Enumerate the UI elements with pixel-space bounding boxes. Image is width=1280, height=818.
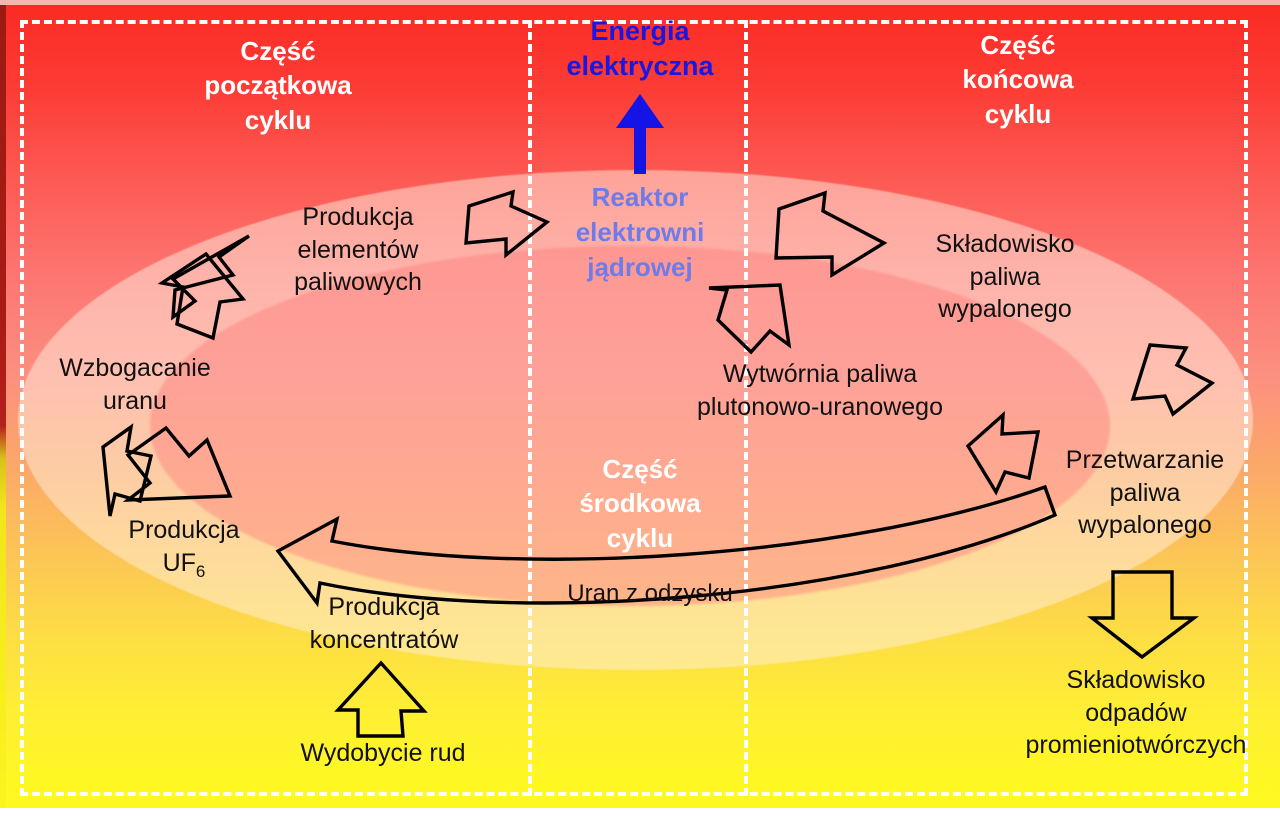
node-przetwarzanie-paliwa: Przetwarzanie paliwa wypalonego — [1036, 444, 1254, 542]
arrow-reprocessing-to-waste-store — [1092, 572, 1194, 657]
node-skladowisko-odpadow: Składowisko odpadów promieniotwórczych — [996, 664, 1276, 762]
arrow-enrichment-to-fuel-elements — [173, 236, 249, 317]
node-reactor: Reaktor elektrowni jądrowej — [520, 180, 760, 284]
arrow-uf6-to-enrichment — [103, 427, 151, 516]
diagram-canvas: Część początkowa cyklu Część środkowa cy… — [0, 0, 1280, 818]
node-produkcja-uf6-text: Produkcja UF — [128, 516, 239, 577]
section-title-start: Część początkowa cyklu — [158, 34, 398, 137]
arrow-mox-plant-to-reactor — [709, 285, 789, 352]
node-wzbogacanie-uranu: Wzbogacanie uranu — [10, 352, 260, 417]
node-skladowisko-paliwa: Składowisko paliwa wypalonego — [900, 228, 1110, 326]
node-wytwornia-paliwa: Wytwórnia paliwa plutonowo-uranowego — [650, 358, 990, 423]
node-produkcja-uf6: Produkcja UF6 — [94, 514, 274, 583]
output-label-electric-energy: Energia elektryczna — [520, 14, 760, 84]
node-produkcja-koncentratow: Produkcja koncentratów — [276, 591, 492, 656]
arrow-reprocessing-to-mox-plant — [968, 415, 1038, 492]
arrow-reactor-to-spent-fuel-store — [776, 193, 884, 275]
flow-label-uran-z-odzysku: Uran z odzysku — [500, 578, 800, 609]
node-wydobycie-rud: Wydobycie rud — [248, 737, 518, 770]
node-produkcja-elementow: Produkcja elementów paliwowych — [250, 201, 466, 299]
arrow-mining-to-concentrate — [338, 663, 424, 736]
section-title-middle: Część środkowa cyklu — [520, 452, 760, 555]
node-produkcja-uf6-subscript: 6 — [196, 562, 205, 581]
up-arrow-icon — [600, 88, 680, 174]
section-title-end: Część końcowa cyklu — [898, 28, 1138, 131]
arrow-spent-fuel-store-to-reprocessing — [1133, 345, 1212, 414]
